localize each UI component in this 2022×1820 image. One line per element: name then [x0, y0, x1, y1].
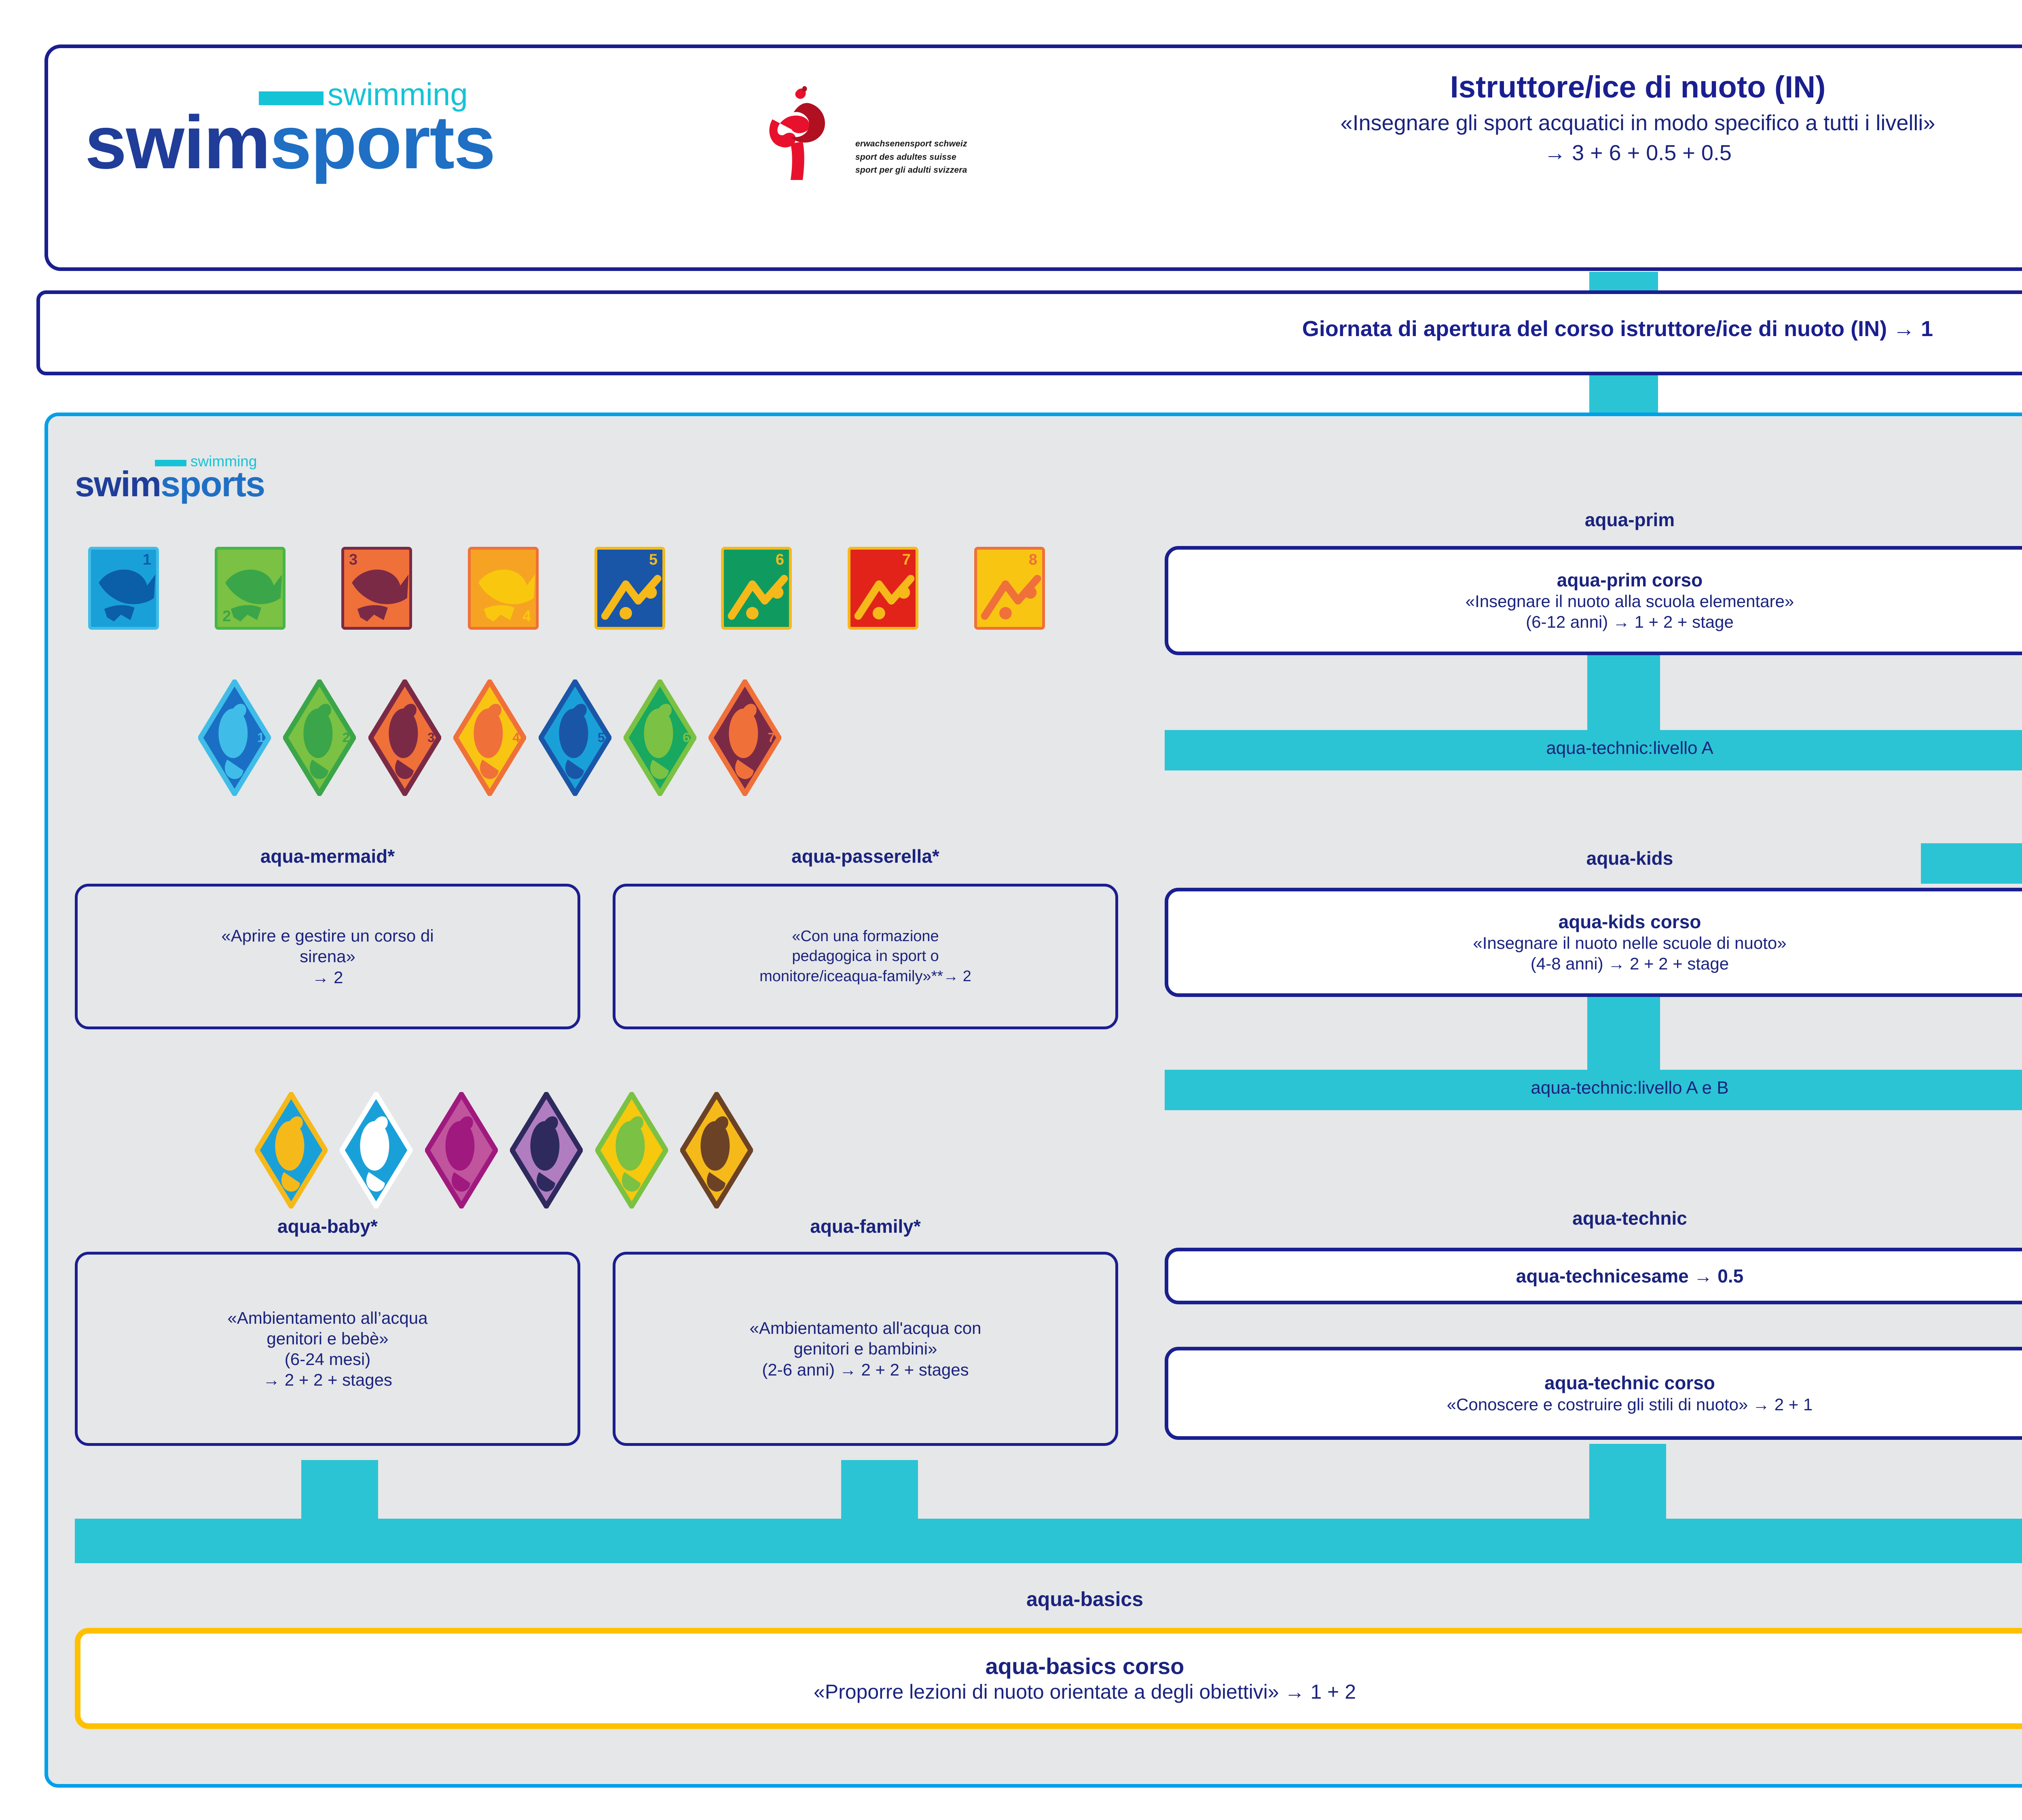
- level-badge-2-icon: 2: [215, 547, 286, 630]
- box-aqua-technic-corso-line-2: «Conoscere e costruire gli stili di nuot…: [1447, 1394, 1813, 1415]
- level-badge-5-icon: 5: [594, 547, 665, 630]
- badge-diamond-seahorse-icon: 2: [283, 679, 356, 796]
- level-badge-1-icon: 1: [88, 547, 159, 630]
- caption-aqua-kids: aqua-kids: [1165, 847, 2022, 869]
- box-aqua-technic-corso: aqua-technic corso «Conoscere e costruir…: [1165, 1347, 2022, 1440]
- badge-number: 4: [522, 608, 531, 625]
- card-aqua-family-line-1: «Ambientamento all'acqua con: [749, 1318, 981, 1338]
- badge-number: 6: [776, 551, 784, 569]
- card-aqua-baby-line-1: «Ambientamento all’acqua: [228, 1308, 428, 1328]
- box-aqua-technic-esame: aqua-technicesame → 0.5: [1165, 1248, 2022, 1304]
- caption-aqua-baby: aqua-baby*: [75, 1215, 580, 1237]
- card-aqua-passerella-line-3: monitore/iceaqua-family»**→ 2: [759, 967, 971, 986]
- passerelle-horizontal-connector: [1921, 843, 2022, 884]
- caption-aqua-mermaid: aqua-mermaid*: [75, 845, 580, 867]
- box-aqua-prim-line-2: «Insegnare il nuoto alla scuola elementa…: [1466, 591, 1794, 612]
- card-aqua-mermaid-line-2: sirena»: [300, 946, 355, 967]
- diamond-shape: [340, 1092, 412, 1208]
- page-title: Istruttore/ice di nuoto (IN): [1092, 69, 2022, 106]
- diamond-badge-number: 2: [343, 730, 350, 745]
- card-aqua-passerella-line-2: pedagogica in sport o: [792, 946, 939, 966]
- caption-aqua-passerella: aqua-passerella*: [613, 845, 1118, 867]
- badge-number: 7: [902, 551, 911, 569]
- badge-diamond-lobster-icon: 1: [198, 679, 271, 796]
- badge-diamond-swan-icon: [340, 1092, 412, 1208]
- logo-sports-text-panel: sports: [161, 464, 264, 504]
- level-badge-3-icon: 3: [341, 547, 412, 630]
- badge-number: 3: [349, 551, 357, 569]
- esa-line-2: sport des adultes suisse: [855, 151, 967, 164]
- page-subtitle: «Insegnare gli sport acquatici in modo s…: [1092, 110, 2022, 137]
- badge-diamond-duck-icon: [255, 1092, 328, 1208]
- caption-aqua-basics: aqua-basics: [75, 1587, 2022, 1611]
- box-aqua-kids-line-2: «Insegnare il nuoto nelle scuole di nuot…: [1473, 933, 1786, 953]
- badge-diamond-beaver-icon: [680, 1092, 753, 1208]
- badge-diamond-crocodile-icon: 6: [624, 679, 696, 796]
- diamond-badge-number: 6: [683, 730, 690, 745]
- badge-diamond-octopus-icon: 5: [539, 679, 611, 796]
- level-badge-4-icon: 4: [468, 547, 539, 630]
- diamond-shape: [255, 1092, 328, 1208]
- card-aqua-baby-line-4: → 2 + 2 + stages: [263, 1369, 392, 1390]
- card-aqua-family: «Ambientamento all'acqua con genitori e …: [613, 1252, 1118, 1446]
- diamond-shape: [595, 1092, 668, 1208]
- badge-diamond-hippo2-icon: [510, 1092, 583, 1208]
- bar-aqua-technic-livello-a-label: aqua-technic:livello A: [1165, 738, 2022, 758]
- card-aqua-mermaid: «Aprire e gestire un corso di sirena» → …: [75, 884, 580, 1029]
- diamond-badge-number: 3: [427, 730, 435, 745]
- box-aqua-basics-title: aqua-basics corso: [986, 1653, 1184, 1680]
- diamond-badge-number: 5: [598, 730, 605, 745]
- badge-diamond-hippo-icon: 7: [709, 679, 781, 796]
- esa-line-1: erwachsenensport schweiz: [855, 138, 967, 151]
- badge-diamond-penguin-icon: 4: [453, 679, 526, 796]
- card-aqua-mermaid-line-1: «Aprire e gestire un corso di: [221, 925, 434, 946]
- page-credits: → 3 + 6 + 0.5 + 0.5: [1092, 140, 2022, 167]
- diamond-shape: [425, 1092, 498, 1208]
- opening-day-label: Giornata di apertura del corso istruttor…: [36, 316, 2022, 341]
- card-aqua-baby-line-3: (6-24 mesi): [285, 1349, 370, 1369]
- card-aqua-passerella: «Con una formazione pedagogica in sport …: [613, 884, 1118, 1029]
- logo-swim-text: swim: [85, 101, 270, 184]
- box-aqua-prim-corso: aqua-prim corso «Insegnare il nuoto alla…: [1165, 546, 2022, 655]
- bar-aqua-technic-livello-ab-label: aqua-technic:livello A e B: [1165, 1078, 2022, 1098]
- diamond-shape: [680, 1092, 753, 1208]
- card-aqua-passerella-line-1: «Con una formazione: [792, 927, 939, 946]
- level-badge-6-icon: 6: [721, 547, 792, 630]
- card-aqua-baby-line-2: genitori e bebè»: [266, 1328, 388, 1349]
- box-aqua-prim-line-3: (6-12 anni) → 1 + 2 + stage: [1526, 612, 1734, 632]
- level-badge-7-icon: 7: [848, 547, 918, 630]
- esa-figure-icon: [748, 85, 853, 186]
- badge-diamond-frog-icon: 3: [368, 679, 441, 796]
- box-aqua-prim-title: aqua-prim corso: [1557, 569, 1703, 591]
- box-aqua-kids-title: aqua-kids corso: [1559, 911, 1701, 933]
- badge-number: 5: [649, 551, 658, 569]
- box-aqua-basics-line-2: «Proporre lezioni di nuoto orientate a d…: [814, 1680, 1356, 1704]
- card-aqua-baby: «Ambientamento all’acqua genitori e bebè…: [75, 1252, 580, 1446]
- diamond-badge-number: 7: [768, 730, 775, 745]
- caption-aqua-family: aqua-family*: [613, 1215, 1118, 1237]
- esa-logo: erwachsenensport schweiz sport des adult…: [748, 89, 1072, 222]
- box-aqua-kids-line-3: (4-8 anni) → 2 + 2 + stage: [1531, 953, 1729, 974]
- badge-number: 1: [143, 551, 151, 569]
- diamond-badge-number: 1: [257, 730, 264, 745]
- card-aqua-family-line-3: (2-6 anni) → 2 + 2 + stages: [762, 1359, 969, 1380]
- logo-sports-text: sports: [270, 101, 495, 184]
- arrow-technicA-to-prim: [1587, 655, 1660, 730]
- card-aqua-mermaid-line-3: → 2: [312, 967, 343, 988]
- box-aqua-basics-corso: aqua-basics corso «Proporre lezioni di n…: [75, 1628, 2022, 1729]
- box-aqua-kids-corso: aqua-kids corso «Insegnare il nuoto nell…: [1165, 888, 2022, 997]
- header-title-block: Istruttore/ice di nuoto (IN) «Insegnare …: [1092, 69, 2022, 167]
- diamond-shape: [510, 1092, 583, 1208]
- box-aqua-technic-corso-title: aqua-technic corso: [1544, 1372, 1715, 1394]
- swimsports-logo-panel: swimming swimsports: [75, 455, 326, 524]
- level-badge-8-icon: 8: [974, 547, 1045, 630]
- diamond-badge-number: 4: [512, 730, 520, 745]
- box-aqua-technic-esame-label: aqua-technicesame → 0.5: [1516, 1265, 1743, 1287]
- caption-aqua-prim: aqua-prim: [1165, 509, 2022, 531]
- logo-swim-text-panel: swim: [75, 464, 161, 504]
- card-aqua-family-line-2: genitori e bambini»: [794, 1338, 937, 1359]
- badge-diamond-turtle-icon: [595, 1092, 668, 1208]
- badge-diamond-seal-icon: [425, 1092, 498, 1208]
- esa-line-3: sport per gli adulti svizzera: [855, 164, 967, 177]
- caption-aqua-technic: aqua-technic: [1165, 1207, 2022, 1229]
- bar-aqua-basics: [75, 1519, 2022, 1563]
- badge-number: 2: [222, 608, 231, 625]
- swimsports-logo-header: swimming swimsports: [85, 81, 611, 214]
- badge-number: 8: [1029, 551, 1037, 569]
- arrow-technicAB-to-kids: [1587, 997, 1660, 1070]
